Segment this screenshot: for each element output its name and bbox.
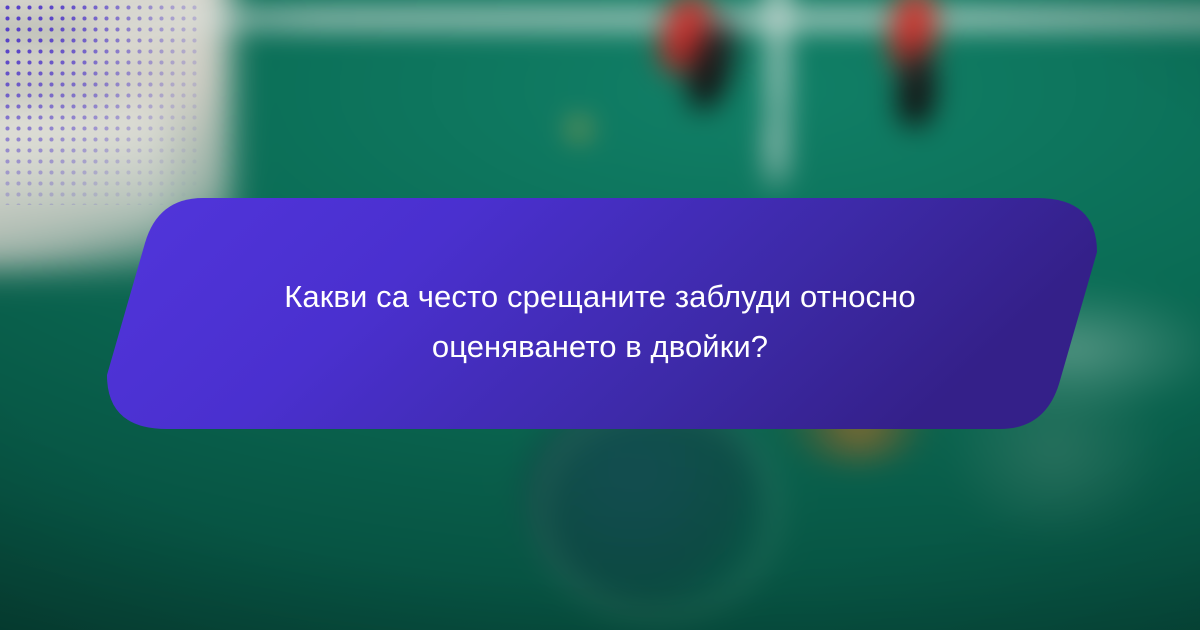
question-text: Какви са често срещаните заблуди относно…	[190, 272, 1010, 372]
social-card-canvas: Какви са често срещаните заблуди относно…	[0, 0, 1200, 630]
question-card: Какви са често срещаните заблуди относно…	[0, 0, 1200, 630]
